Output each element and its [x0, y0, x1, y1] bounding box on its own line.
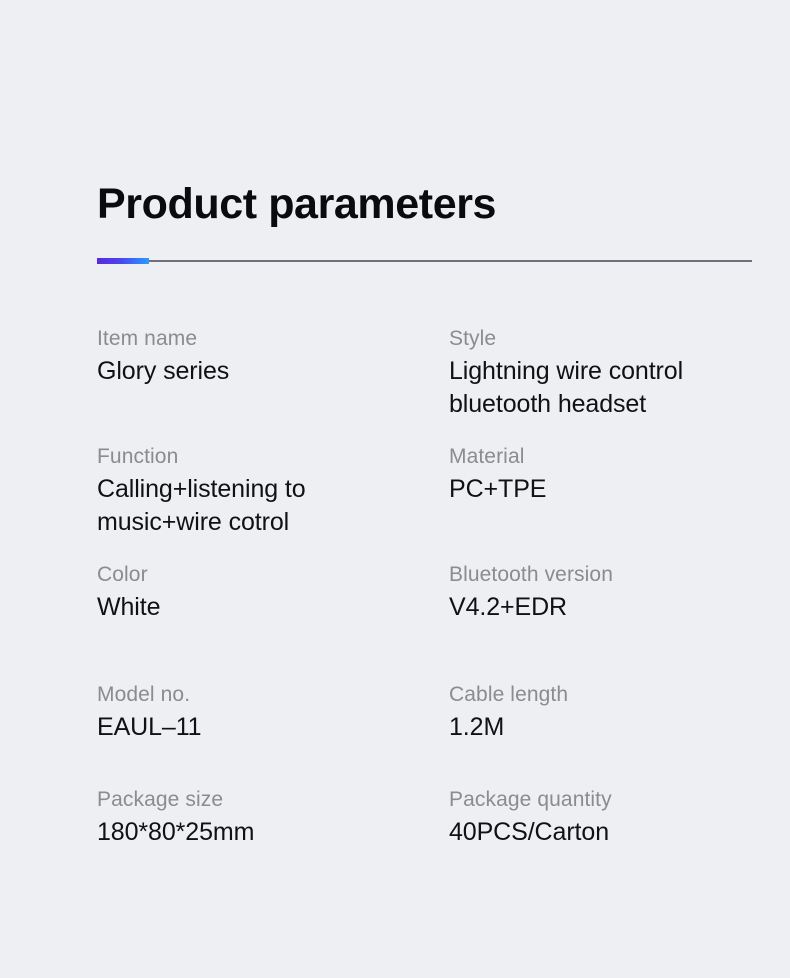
spec-label: Bluetooth version: [449, 562, 769, 588]
spec-row: Style Lightning wire control bluetooth h…: [449, 326, 769, 421]
spec-value: V4.2+EDR: [449, 591, 769, 624]
spec-row: Model no. EAUL–11: [97, 682, 417, 744]
spec-value: 1.2M: [449, 711, 769, 744]
spec-row: Item name Glory series: [97, 326, 417, 388]
spec-row: Package quantity 40PCS/Carton: [449, 787, 769, 849]
divider-accent-gradient: [97, 258, 149, 264]
spec-value: 40PCS/Carton: [449, 816, 769, 849]
spec-row: Bluetooth version V4.2+EDR: [449, 562, 769, 624]
spec-value: 180*80*25mm: [97, 816, 417, 849]
spec-row: Package size 180*80*25mm: [97, 787, 417, 849]
spec-value: PC+TPE: [449, 473, 769, 506]
spec-row: Material PC+TPE: [449, 444, 769, 506]
divider-rule: [97, 260, 752, 262]
spec-label: Function: [97, 444, 417, 470]
spec-row: Color White: [97, 562, 417, 624]
page-title: Product parameters: [97, 181, 496, 227]
spec-label: Package quantity: [449, 787, 769, 813]
title-divider: [97, 258, 752, 264]
spec-label: Item name: [97, 326, 417, 352]
spec-row: Cable length 1.2M: [449, 682, 769, 744]
spec-label: Package size: [97, 787, 417, 813]
spec-label: Model no.: [97, 682, 417, 708]
spec-value: White: [97, 591, 417, 624]
spec-label: Material: [449, 444, 769, 470]
spec-label: Style: [449, 326, 769, 352]
spec-label: Cable length: [449, 682, 769, 708]
spec-label: Color: [97, 562, 417, 588]
spec-value: Calling+listening to music+wire cotrol: [97, 473, 417, 539]
spec-value: Lightning wire control bluetooth headset: [449, 355, 769, 421]
product-parameters-page: Product parameters Item name Glory serie…: [0, 0, 790, 978]
spec-value: EAUL–11: [97, 711, 417, 744]
spec-row: Function Calling+listening to music+wire…: [97, 444, 417, 539]
spec-value: Glory series: [97, 355, 417, 388]
